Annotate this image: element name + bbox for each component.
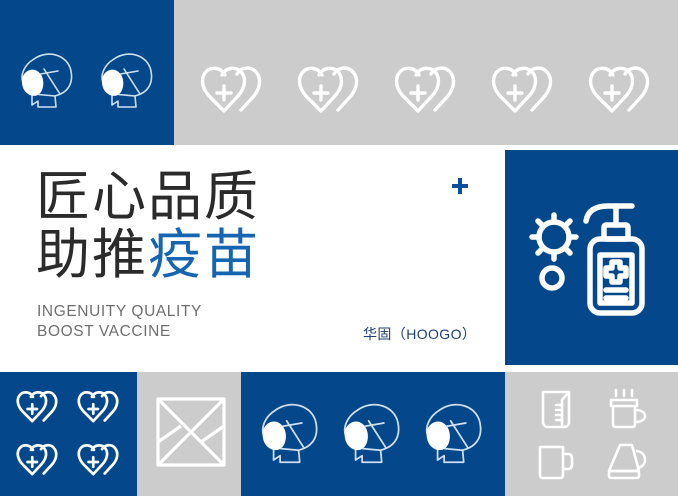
poster-canvas: 匠心品质 助推疫苗 INGENUITY QUALITY BOOST VACCIN… xyxy=(0,0,678,496)
kettle-icon xyxy=(604,441,650,483)
double-heart-plus-icon xyxy=(10,441,68,483)
masked-face-icon xyxy=(94,49,162,115)
double-heart-plus-icon xyxy=(482,65,568,121)
headline-line-2: 助推疫苗 xyxy=(36,226,366,284)
headline-line-2-accent: 疫苗 xyxy=(148,225,260,285)
headline-line-1: 匠心品质 xyxy=(36,168,366,226)
top-heart-icon-row xyxy=(186,62,670,124)
steaming-cup-icon xyxy=(604,388,650,432)
double-heart-plus-icon xyxy=(288,65,374,121)
masked-face-icon xyxy=(254,399,328,471)
subtitle-english: INGENUITY QUALITY BOOST VACCINE xyxy=(37,302,202,342)
headline-line-2-prefix: 助推 xyxy=(36,225,148,285)
broken-image-placeholder-icon xyxy=(155,396,227,468)
beaker-icon xyxy=(536,388,576,432)
bottom-vessel-icon-grid xyxy=(520,384,662,488)
bottom-mask-icon-row xyxy=(250,393,496,477)
brand-name: 华固（HOOGO） xyxy=(363,324,476,344)
sanitizer-pump-bottle-icon xyxy=(528,195,656,325)
double-heart-plus-icon xyxy=(71,388,129,430)
masked-face-icon xyxy=(14,49,82,115)
masked-face-icon xyxy=(418,399,492,471)
masked-face-icon xyxy=(336,399,410,471)
double-heart-plus-icon xyxy=(10,388,68,430)
double-heart-plus-icon xyxy=(579,65,665,121)
plus-mark-icon xyxy=(450,176,470,196)
double-heart-plus-icon xyxy=(71,441,129,483)
bottom-heart-icon-grid xyxy=(8,382,130,488)
page-title: 匠心品质 助推疫苗 xyxy=(36,168,366,284)
mug-icon xyxy=(535,441,577,483)
double-heart-plus-icon xyxy=(385,65,471,121)
top-mask-icon-row xyxy=(8,46,168,118)
double-heart-plus-icon xyxy=(191,65,277,121)
